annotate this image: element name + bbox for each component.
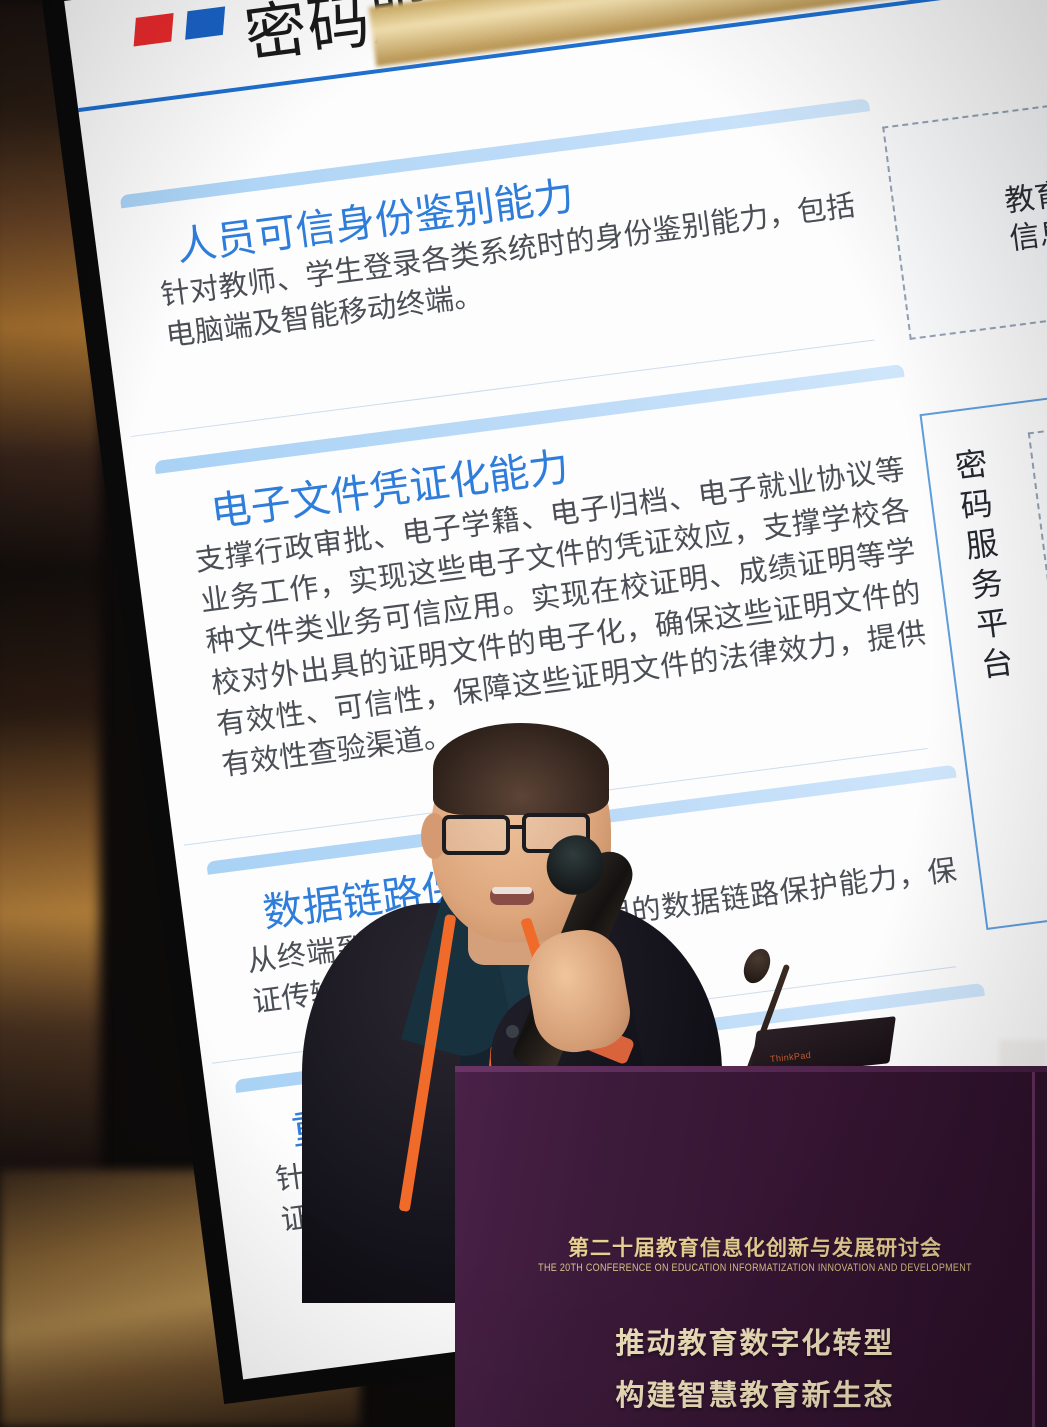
conference-slogan-line-2: 构建智慧教育新生态	[455, 1372, 1047, 1414]
lectern: 第二十届教育信息化创新与发展研讨会 THE 20TH CONFERENCE ON…	[455, 1072, 1047, 1427]
speaker-teeth	[492, 887, 532, 894]
conference-slogan-line-1: 推动教育数字化转型	[455, 1320, 1047, 1362]
glasses-lens-left-icon	[442, 815, 510, 855]
speaker-hair	[433, 723, 609, 815]
lectern-right-edge	[1032, 1072, 1035, 1427]
slide-section-2: 电子文件凭证化能力 支撑行政审批、电子学籍、电子归档、电子就业协议等业务工作，实…	[154, 361, 928, 461]
photo-stage: 密码服务平台是构建数字校园安全 人员可信身份鉴别能力 针对教师、学生登录各类系统…	[0, 0, 1047, 1427]
glasses-bridge	[508, 825, 526, 829]
cardigan-button-upper	[506, 1025, 519, 1038]
conference-title-cn: 第二十届教育信息化创新与发展研讨会	[455, 1232, 1047, 1262]
red-square-icon	[134, 13, 174, 46]
blue-square-icon	[185, 6, 225, 39]
slide-section-1: 人员可信身份鉴别能力 针对教师、学生登录各类系统时的身份鉴别能力，包括电脑端及智…	[120, 95, 894, 195]
conference-title-en: THE 20TH CONFERENCE ON EDUCATION INFORMA…	[455, 1261, 1047, 1274]
